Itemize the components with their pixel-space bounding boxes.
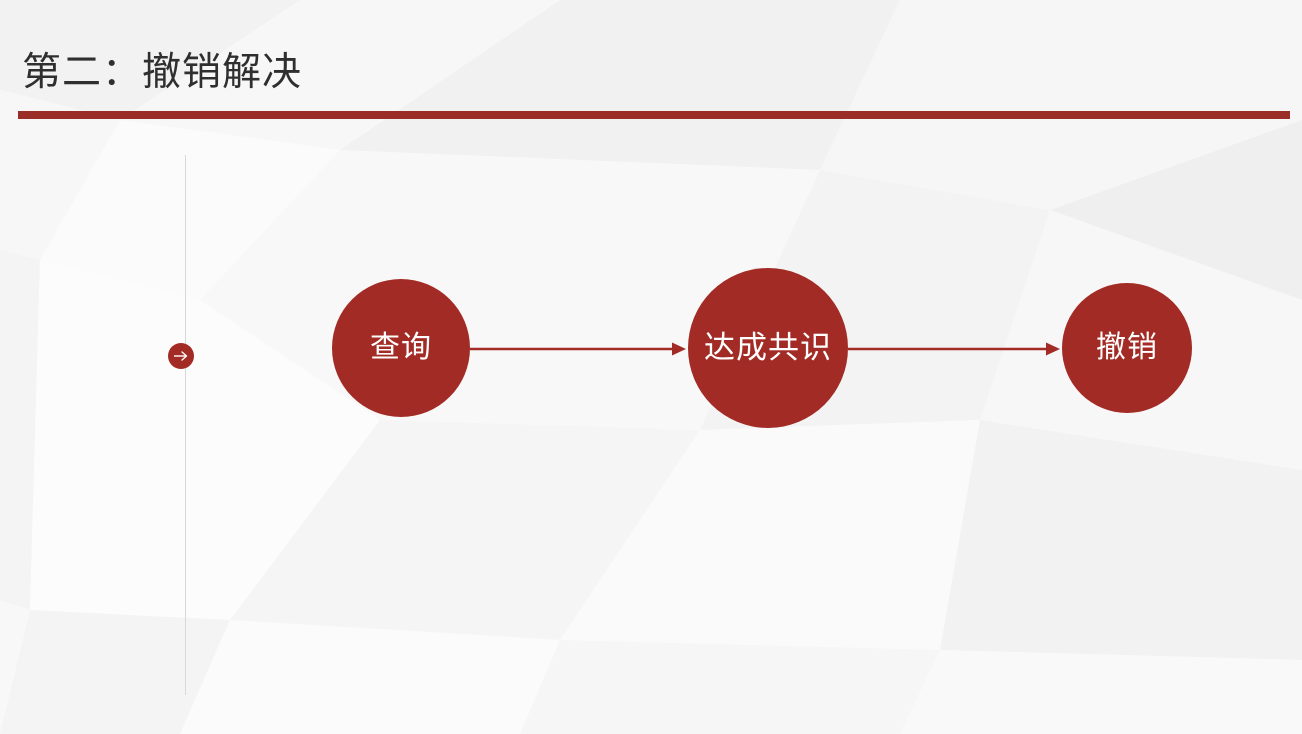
flow-connector-arrow-2: [848, 339, 1062, 359]
process-flow-diagram: 查询 达成共识 撤销: [0, 0, 1302, 734]
flow-node-cancel[interactable]: 撤销: [1062, 283, 1192, 413]
slide-canvas: 第二：撤销解决 查询 达成共识: [0, 0, 1302, 734]
flow-node-query[interactable]: 查询: [332, 279, 470, 417]
flow-node-label: 达成共识: [704, 331, 832, 365]
flow-node-label: 撤销: [1096, 331, 1158, 365]
flow-connector-arrow-1: [470, 339, 688, 359]
flow-node-label: 查询: [370, 331, 432, 365]
flow-node-consensus[interactable]: 达成共识: [688, 268, 848, 428]
